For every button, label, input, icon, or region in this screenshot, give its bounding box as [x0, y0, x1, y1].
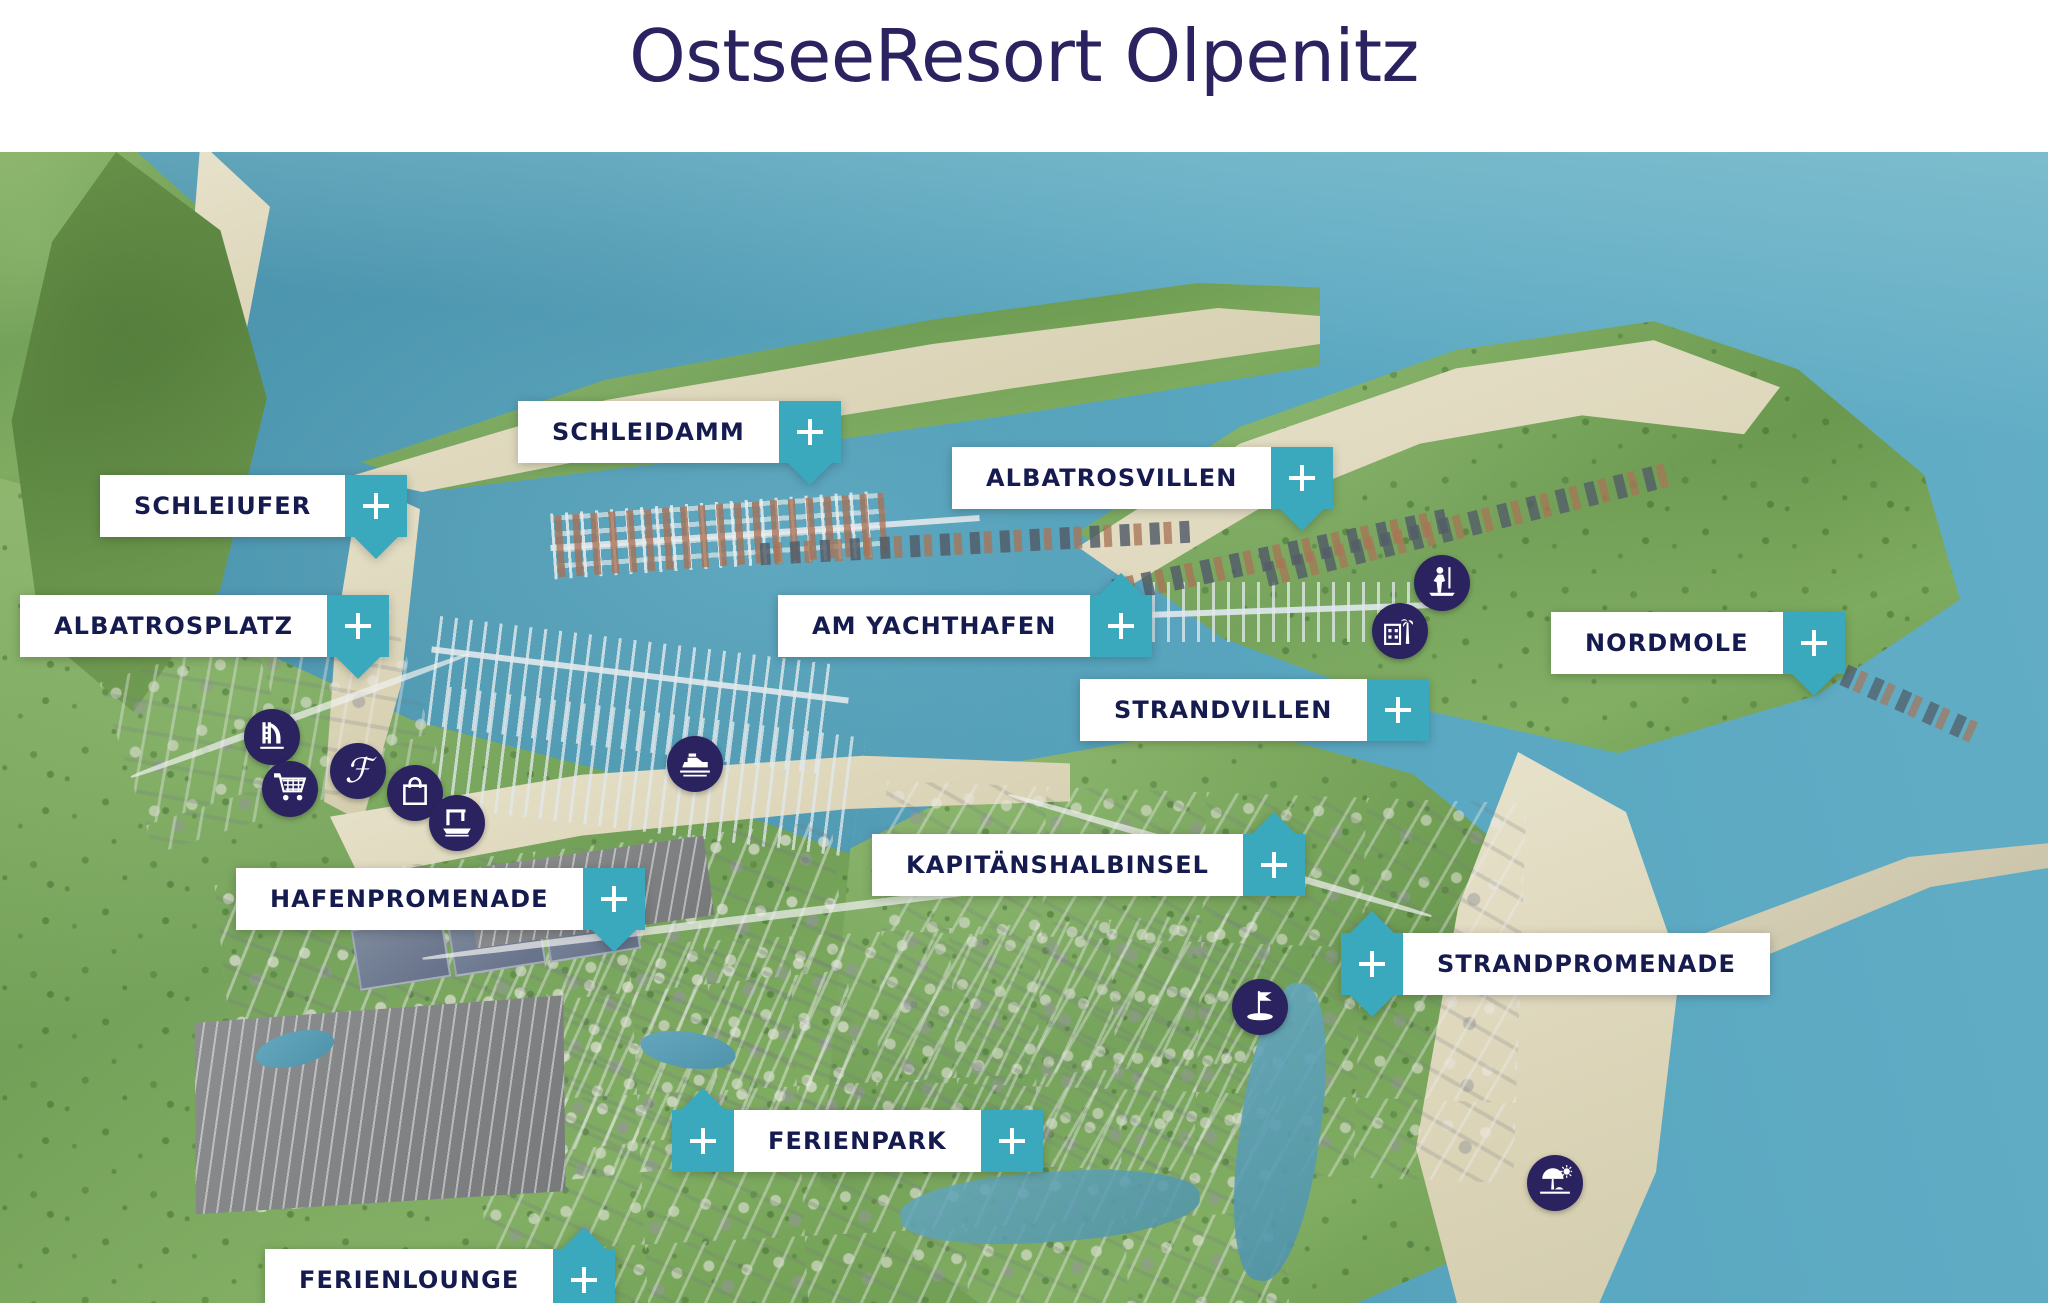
- map-label-albatrosvillen[interactable]: ALBATROSVILLEN: [952, 447, 1333, 509]
- map-label-schleidamm-text: SCHLEIDAMM: [518, 401, 779, 463]
- map-label-kapitaenshalbinsel[interactable]: KAPITÄNSHALBINSEL: [872, 834, 1305, 896]
- pointer-down-icon: [336, 657, 380, 679]
- map-label-strandpromenade-plus-button[interactable]: [1341, 933, 1403, 995]
- map-label-ferienlounge-plus-button[interactable]: [553, 1249, 615, 1303]
- map-label-nordmole[interactable]: NORDMOLE: [1551, 612, 1845, 674]
- poi-marina-boat[interactable]: [667, 736, 723, 792]
- poi-paddleboard[interactable]: [1414, 555, 1470, 611]
- map-label-ferienpark-text: FERIENPARK: [734, 1110, 981, 1172]
- map-label-strandvillen[interactable]: STRANDVILLEN: [1080, 679, 1429, 741]
- map-label-schleidamm[interactable]: SCHLEIDAMM: [518, 401, 841, 463]
- map-label-albatrosplatz-plus-button[interactable]: [327, 595, 389, 657]
- map-label-schleiufer[interactable]: SCHLEIUFER: [100, 475, 407, 537]
- pointer-down-icon: [1792, 674, 1836, 696]
- poi-boat-lift[interactable]: [429, 795, 485, 851]
- map-label-albatrosvillen-plus-button[interactable]: [1271, 447, 1333, 509]
- map-label-kapitaenshalbinsel-plus-button[interactable]: [1243, 834, 1305, 896]
- map-label-am-yachthafen[interactable]: AM YACHTHAFEN: [778, 595, 1152, 657]
- map-label-albatrosplatz[interactable]: ALBATROSPLATZ: [20, 595, 389, 657]
- map-label-am-yachthafen-plus-button[interactable]: [1090, 595, 1152, 657]
- pointer-down-icon: [1280, 509, 1324, 531]
- page-title: OstseeResort Olpenitz: [0, 14, 2048, 98]
- map-label-ferienpark[interactable]: FERIENPARK: [672, 1110, 1043, 1172]
- pointer-down-icon: [592, 930, 636, 952]
- f-monogram-icon: ℱ: [345, 754, 372, 788]
- paddleboard-icon: [1425, 564, 1459, 603]
- map-label-am-yachthafen-text: AM YACHTHAFEN: [778, 595, 1090, 657]
- map-label-schleiufer-plus-button[interactable]: [345, 475, 407, 537]
- map-label-schleidamm-plus-button[interactable]: [779, 401, 841, 463]
- map-label-hafenpromenade[interactable]: HAFENPROMENADE: [236, 868, 645, 930]
- map-label-kapitaenshalbinsel-text: KAPITÄNSHALBINSEL: [872, 834, 1243, 896]
- map-label-hafenpromenade-text: HAFENPROMENADE: [236, 868, 583, 930]
- map-label-ferienlounge[interactable]: FERIENLOUNGE: [265, 1249, 615, 1303]
- map-label-hafenpromenade-plus-button[interactable]: [583, 868, 645, 930]
- map-label-strandpromenade-text: STRANDPROMENADE: [1403, 933, 1770, 995]
- pointer-up-icon: [681, 1088, 725, 1110]
- map-label-strandvillen-plus-button[interactable]: [1367, 679, 1429, 741]
- motorboat-icon: [678, 745, 712, 784]
- map-label-ferienlounge-text: FERIENLOUNGE: [265, 1249, 553, 1303]
- shopping-cart-icon: [273, 770, 307, 809]
- poi-shopping-cart[interactable]: [262, 761, 318, 817]
- page-root: OstseeResort Olpenitz: [0, 0, 2048, 1303]
- poi-waterslide[interactable]: [244, 709, 300, 765]
- pointer-down-icon: [354, 537, 398, 559]
- poi-beach[interactable]: [1527, 1155, 1583, 1211]
- map-label-ferienpark-plus-button-right[interactable]: [981, 1110, 1043, 1172]
- resort-map[interactable]: SCHLEIDAMM SCHLEIUFER ALBATROSVILLEN ALB…: [0, 152, 2048, 1303]
- pointer-up-icon: [1252, 812, 1296, 834]
- boat-crane-icon: [440, 804, 474, 843]
- map-label-nordmole-text: NORDMOLE: [1551, 612, 1783, 674]
- pointer-up-icon: [562, 1227, 606, 1249]
- map-label-strandpromenade[interactable]: STRANDPROMENADE: [1341, 933, 1770, 995]
- map-label-ferienpark-plus-button-left[interactable]: [672, 1110, 734, 1172]
- pointer-up-icon: [1099, 573, 1143, 595]
- poi-resort-building[interactable]: [1372, 603, 1428, 659]
- beach-umbrella-icon: [1538, 1164, 1572, 1203]
- map-label-albatrosplatz-text: ALBATROSPLATZ: [20, 595, 327, 657]
- poi-flensburger-monogram[interactable]: ℱ: [330, 743, 386, 799]
- map-label-schleiufer-text: SCHLEIUFER: [100, 475, 345, 537]
- water-slide-icon: [255, 718, 289, 757]
- pointer-up-icon: [1350, 911, 1394, 933]
- poi-golf[interactable]: [1232, 979, 1288, 1035]
- map-label-nordmole-plus-button[interactable]: [1783, 612, 1845, 674]
- pointer-down-icon: [1350, 995, 1394, 1017]
- golf-flag-icon: [1243, 988, 1277, 1027]
- pointer-down-icon: [788, 463, 832, 485]
- map-label-albatrosvillen-text: ALBATROSVILLEN: [952, 447, 1271, 509]
- resort-building-icon: [1383, 612, 1417, 651]
- map-label-strandvillen-text: STRANDVILLEN: [1080, 679, 1367, 741]
- shopping-bag-icon: [398, 774, 432, 813]
